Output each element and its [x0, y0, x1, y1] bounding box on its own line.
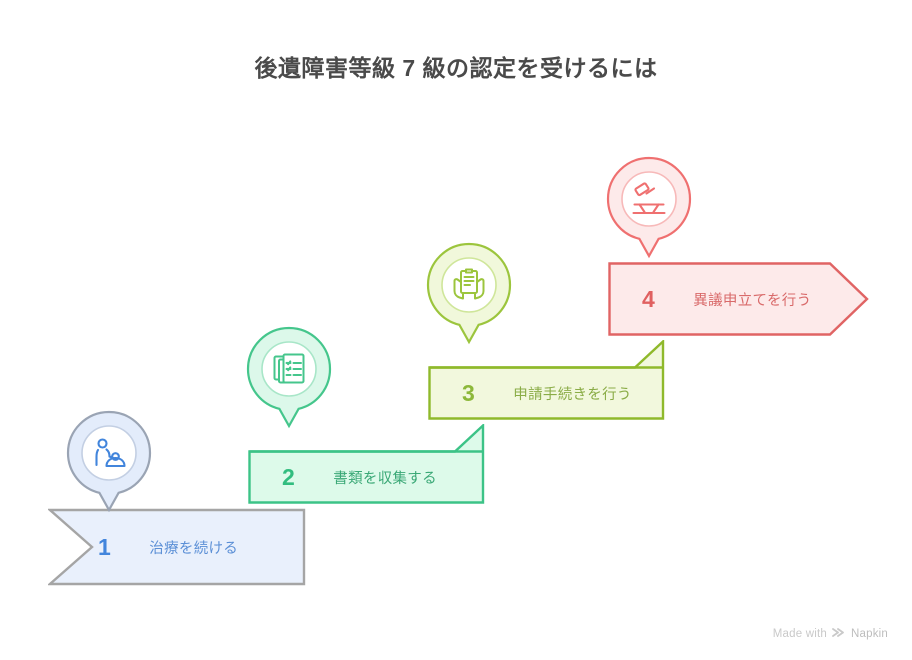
pin-step-1[interactable] [66, 410, 152, 514]
footer-brand: Napkin [851, 628, 888, 640]
pin-step-2[interactable] [246, 326, 332, 430]
pin-step-4[interactable] [606, 156, 692, 260]
step-3[interactable]: 3 申請手続きを行う [428, 340, 666, 420]
step-3-banner-shape [428, 340, 666, 420]
diagram-canvas: 後遺障害等級 7 級の認定を受けるには 1 治療を続ける 2 書類を収集する 3… [0, 0, 912, 660]
step-2[interactable]: 2 書類を収集する [248, 424, 486, 504]
step-2-banner-shape [248, 424, 486, 504]
napkin-chevrons-icon [832, 627, 846, 643]
pin-step-3[interactable] [426, 242, 512, 346]
gavel-pin-shape [608, 158, 690, 256]
step-4-banner-shape [608, 262, 870, 336]
step-1[interactable]: 1 治療を続ける [48, 508, 306, 586]
step-4[interactable]: 4 異議申立てを行う [608, 262, 870, 336]
page-title: 後遺障害等級 7 級の認定を受けるには [0, 54, 912, 84]
step-1-banner-shape [48, 508, 306, 586]
footer-watermark: Made with Napkin [773, 627, 888, 643]
footer-prefix: Made with [773, 628, 827, 640]
